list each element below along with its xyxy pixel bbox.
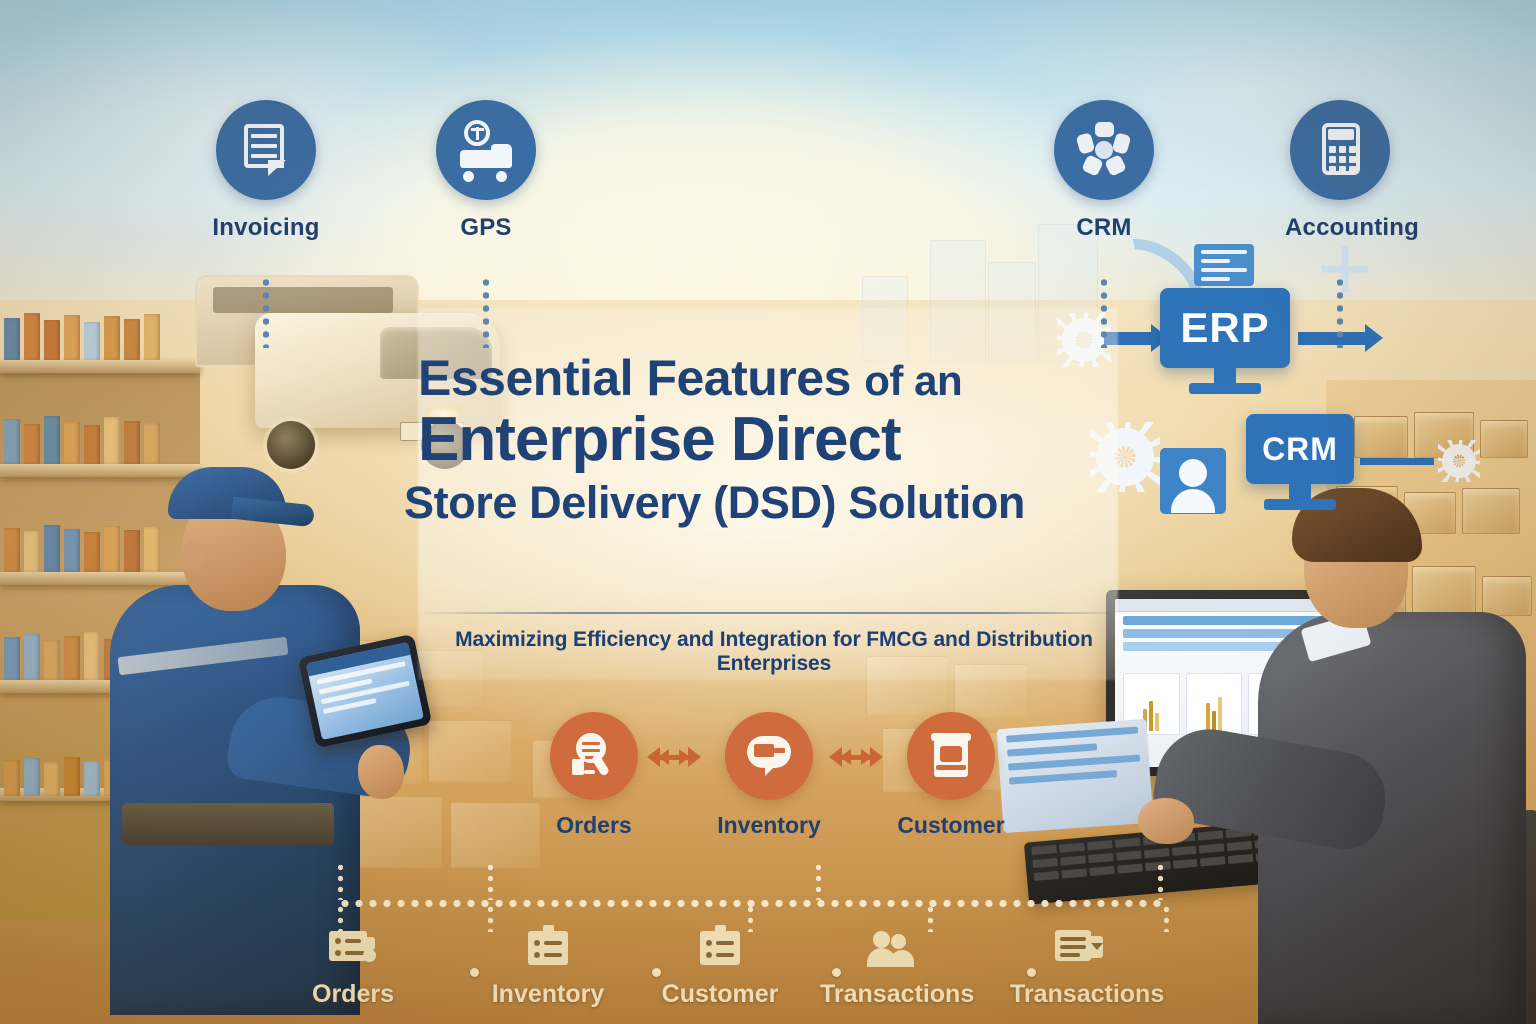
gps-truck-tracking-icon (458, 122, 514, 178)
feature-crm[interactable]: CRM (1049, 100, 1159, 242)
inventory-bubble-box-icon (745, 732, 793, 780)
bottom-label: Transactions (1010, 980, 1150, 1009)
feature-label: GPS (431, 214, 541, 242)
invoice-document-icon (238, 122, 294, 178)
bottom-label: Orders (283, 980, 423, 1009)
crm-screen: CRM (1246, 414, 1354, 484)
feature-gps[interactable]: GPS (431, 100, 541, 242)
feature-label: CRM (1049, 214, 1159, 242)
bottom-item-orders[interactable]: Orders (283, 922, 423, 1009)
bottom-label: Customer (650, 980, 790, 1009)
crm-label: CRM (1262, 431, 1338, 468)
title-line-3: Store Delivery (DSD) Solution (404, 479, 1118, 526)
infographic-canvas: DSD (0, 0, 1536, 1024)
title-line-2: Enterprise Direct (418, 408, 1118, 471)
flow-label: Customer (891, 812, 1011, 839)
bidirectional-arrow-1 (647, 744, 701, 770)
connector-dots-gps (483, 276, 489, 348)
customer-container-icon (927, 732, 975, 780)
title-line-1: Essential Features of an (418, 352, 1118, 404)
customer-clipboard-icon (694, 925, 746, 971)
gps-circle (436, 100, 536, 200)
feature-accounting[interactable]: Accounting (1285, 100, 1395, 242)
invoicing-circle (216, 100, 316, 200)
connector-dots-crm (1101, 276, 1107, 348)
feature-invoicing[interactable]: Invoicing (211, 100, 321, 242)
crm-network-petals-icon (1076, 122, 1132, 178)
bottom-item-transactions-card[interactable]: Transactions (1010, 922, 1150, 1009)
erp-crm-integration-diagram: ERP CRM (1060, 232, 1480, 518)
bottom-connector-rail (338, 900, 1166, 907)
customer-circle (907, 712, 995, 800)
calculator-icon (1312, 122, 1368, 178)
transactions-card-icon (1054, 925, 1106, 971)
bottom-item-inventory[interactable]: Inventory (478, 922, 618, 1009)
flow-orders[interactable]: Orders (534, 712, 654, 839)
bidirectional-arrow-2 (829, 744, 883, 770)
document-list-icon (1194, 244, 1254, 286)
orders-card-icon (327, 925, 379, 971)
laptop-device (997, 719, 1154, 833)
title-line-1-strong: Essential Features (418, 350, 851, 406)
title-block: Essential Features of an Enterprise Dire… (418, 352, 1118, 526)
accounting-circle (1290, 100, 1390, 200)
people-group-icon (864, 925, 916, 971)
flow-customer[interactable]: Customer (891, 712, 1011, 839)
connector-dots-accounting (1337, 276, 1343, 348)
feature-label: Accounting (1285, 214, 1395, 242)
connector-dots-invoicing (263, 276, 269, 348)
user-profile-icon (1160, 448, 1226, 514)
order-inspection-icon (570, 732, 618, 780)
erp-screen: ERP (1160, 288, 1290, 368)
inventory-clipboard-icon (522, 925, 574, 971)
feature-label: Invoicing (211, 214, 321, 242)
bottom-item-customer[interactable]: Customer (650, 922, 790, 1009)
bottom-label: Inventory (478, 980, 618, 1009)
flow-inventory[interactable]: Inventory (709, 712, 829, 839)
subtitle: Maximizing Efficiency and Integration fo… (418, 628, 1130, 676)
title-line-1-light: of an (864, 357, 962, 404)
inventory-circle (725, 712, 813, 800)
orders-circle (550, 712, 638, 800)
title-divider (418, 612, 1130, 614)
crm-circle (1054, 100, 1154, 200)
flow-label: Inventory (709, 812, 829, 839)
arrow-out-of-crm (1360, 458, 1434, 465)
bottom-label: Transactions (820, 980, 960, 1009)
sparkle-icon (1322, 246, 1368, 292)
gear-icon-right (1442, 444, 1476, 478)
flow-label: Orders (534, 812, 654, 839)
arrow-out-of-erp (1298, 332, 1366, 345)
erp-label: ERP (1180, 304, 1269, 352)
office-worker-scene (1096, 480, 1526, 1024)
bottom-item-transactions-people[interactable]: Transactions (820, 922, 960, 1009)
